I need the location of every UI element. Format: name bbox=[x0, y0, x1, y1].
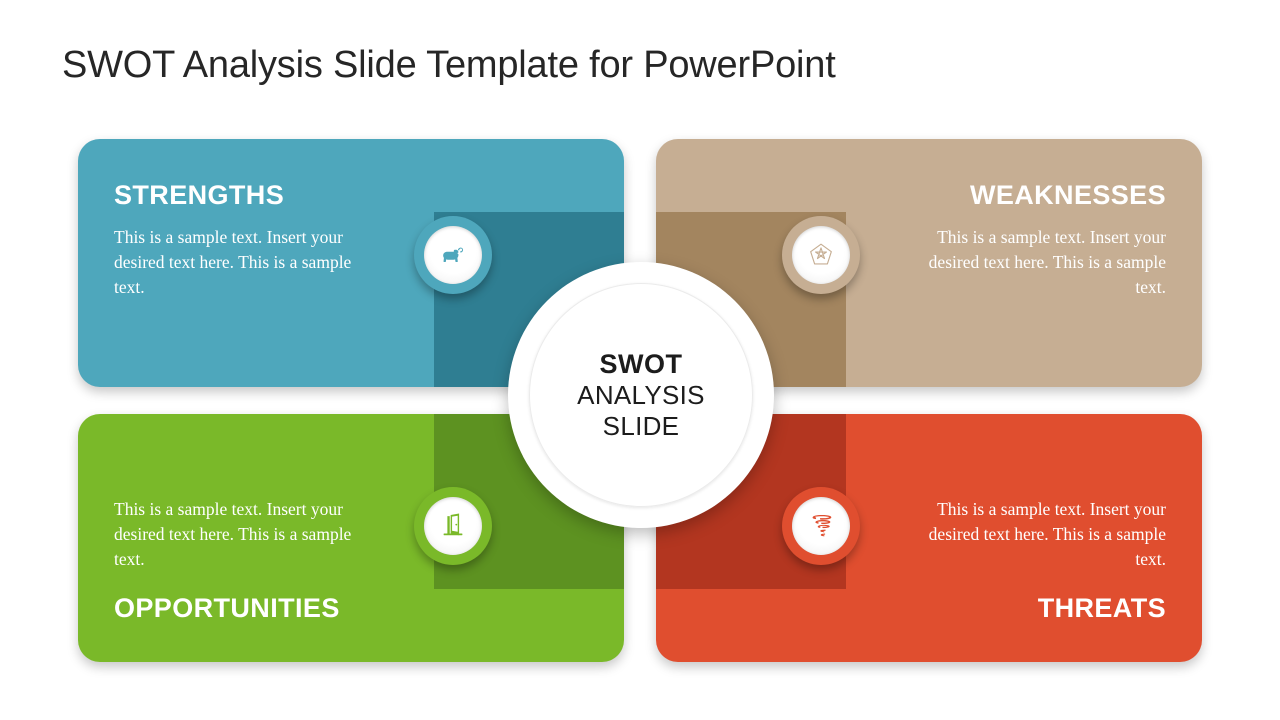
icon-badge-opportunities[interactable] bbox=[414, 487, 492, 565]
quadrant-title-opportunities: OPPORTUNITIES bbox=[114, 594, 340, 622]
icon-badge-inner-threats bbox=[792, 497, 850, 555]
ram-icon bbox=[438, 240, 468, 270]
swot-slide: SWOT Analysis Slide Template for PowerPo… bbox=[0, 0, 1280, 720]
quadrant-body-opportunities: This is a sample text. Insert your desir… bbox=[114, 497, 354, 572]
open-door-icon bbox=[438, 511, 468, 541]
icon-badge-inner-weaknesses bbox=[792, 226, 850, 284]
icon-badge-inner-opportunities bbox=[424, 497, 482, 555]
quadrant-body-threats: This is a sample text. Insert your desir… bbox=[926, 497, 1166, 572]
icon-badge-weaknesses[interactable] bbox=[782, 216, 860, 294]
icon-badge-threats[interactable] bbox=[782, 487, 860, 565]
center-title-line2: ANALYSIS bbox=[577, 380, 705, 411]
page-title: SWOT Analysis Slide Template for PowerPo… bbox=[62, 44, 836, 87]
quadrant-body-weaknesses: This is a sample text. Insert your desir… bbox=[926, 225, 1166, 300]
quadrant-title-threats: THREATS bbox=[1038, 594, 1166, 622]
center-title-line3: SLIDE bbox=[603, 411, 680, 442]
icon-badge-strengths[interactable] bbox=[414, 216, 492, 294]
center-title-line1: SWOT bbox=[600, 349, 683, 380]
pentagram-star-icon bbox=[806, 240, 836, 270]
center-circle-inner: SWOT ANALYSIS SLIDE bbox=[529, 283, 753, 507]
tornado-icon bbox=[806, 511, 836, 541]
quadrant-title-strengths: STRENGTHS bbox=[114, 181, 284, 209]
center-circle[interactable]: SWOT ANALYSIS SLIDE bbox=[508, 262, 774, 528]
quadrant-body-strengths: This is a sample text. Insert your desir… bbox=[114, 225, 354, 300]
quadrant-title-weaknesses: WEAKNESSES bbox=[970, 181, 1166, 209]
icon-badge-inner-strengths bbox=[424, 226, 482, 284]
